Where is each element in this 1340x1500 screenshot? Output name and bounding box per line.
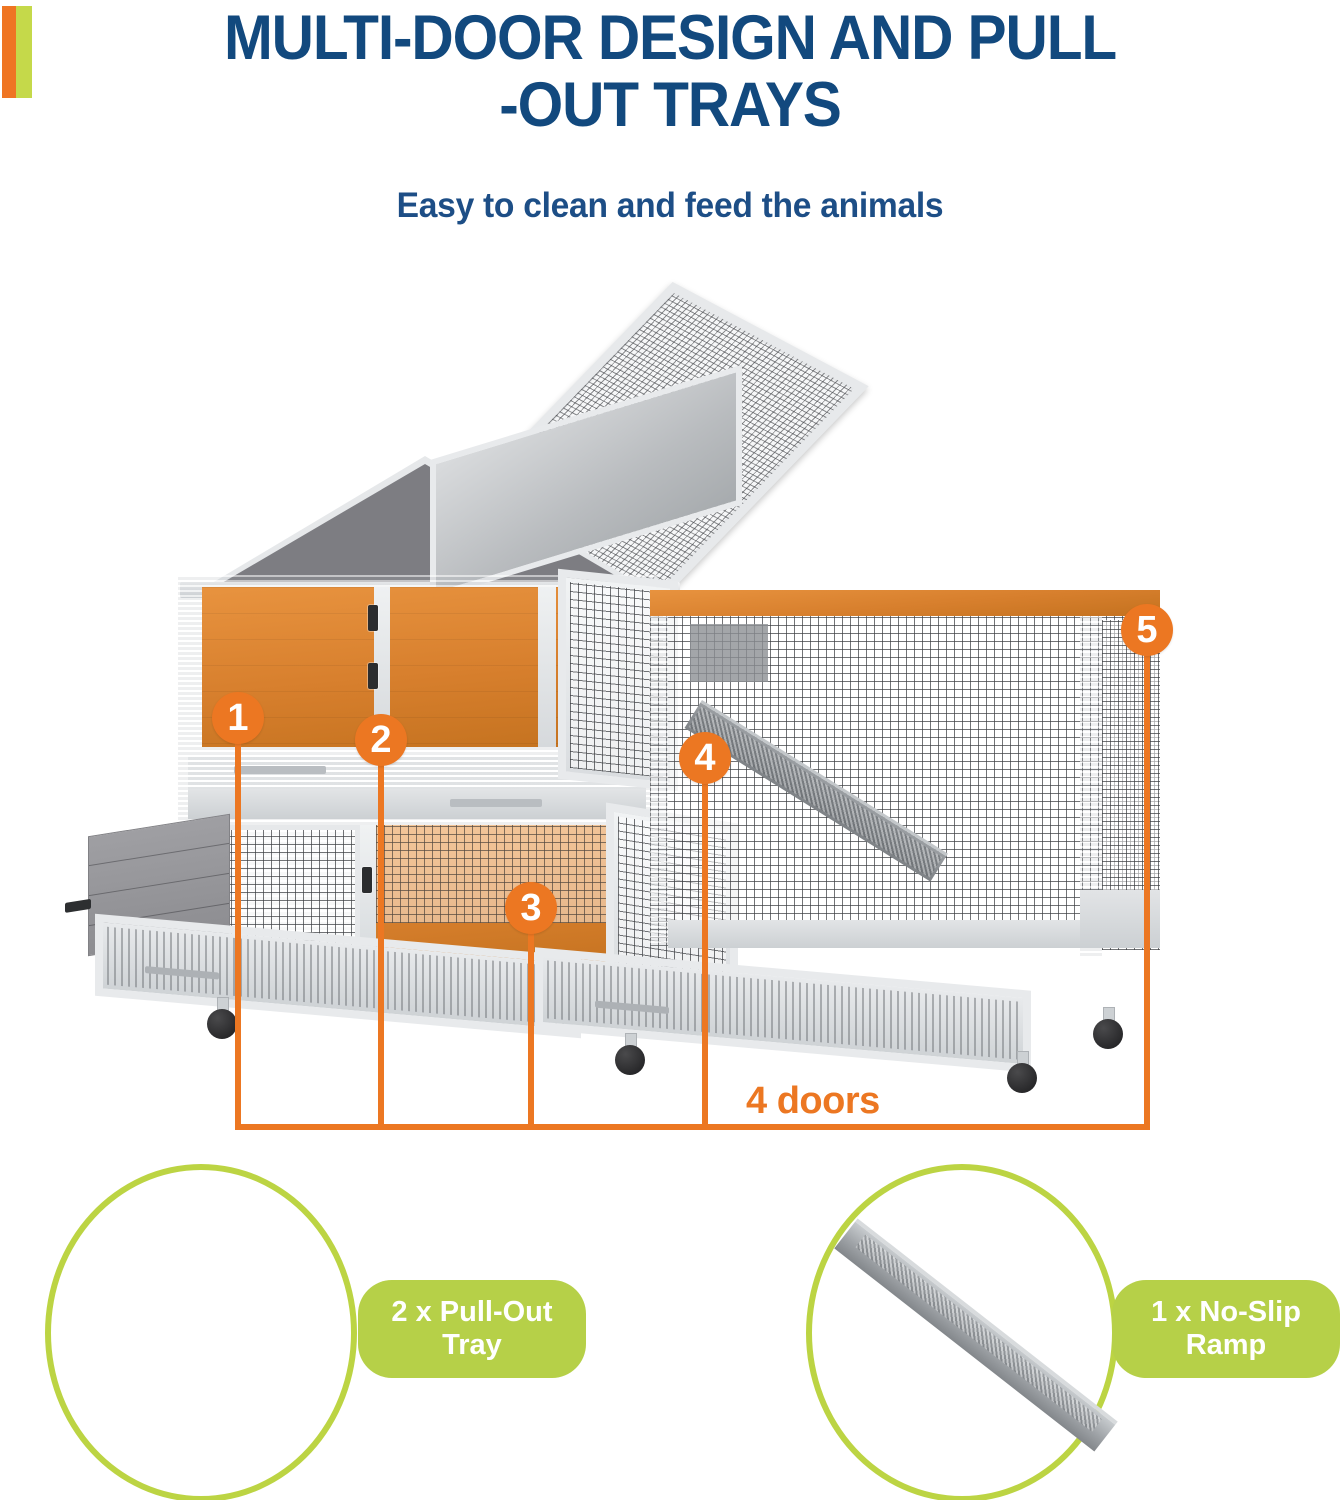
outdoor-run-enclosure bbox=[650, 590, 1160, 990]
ramp-photo-bar bbox=[834, 1218, 1117, 1451]
feature-pill-ramp-text: 1 x No-Slip Ramp bbox=[1151, 1296, 1301, 1363]
feature-pill-ramp-line-1: 1 x No-Slip bbox=[1151, 1296, 1301, 1328]
accent-bar-orange-stripe bbox=[2, 6, 16, 98]
run-left-post bbox=[650, 616, 668, 946]
feature-pill-tray-text: 2 x Pull-Out Tray bbox=[391, 1296, 552, 1363]
callout-marker-3[interactable]: 3 bbox=[505, 882, 557, 934]
callout-line-5 bbox=[1144, 652, 1150, 1130]
callout-line-3 bbox=[528, 930, 534, 1130]
callout-marker-4[interactable]: 4 bbox=[679, 732, 731, 784]
hinge-upper-bottom bbox=[368, 663, 378, 689]
caster-wheel-front-left bbox=[207, 1009, 237, 1039]
feature-pill-ramp: 1 x No-Slip Ramp bbox=[1112, 1280, 1340, 1378]
caster-wheel-rear-right bbox=[1093, 1019, 1123, 1049]
page-subtitle: Easy to clean and feed the animals bbox=[27, 186, 1313, 226]
feature-card-no-slip-ramp: 1 x No-Slip Ramp bbox=[700, 1160, 1340, 1500]
page-title-line-2: -OUT TRAYS bbox=[47, 75, 1293, 136]
callout-line-4 bbox=[702, 780, 708, 1130]
tray-right-slats bbox=[547, 960, 1019, 1059]
pull-out-tray-right bbox=[535, 947, 1031, 1072]
feature-pill-tray-line-1: 2 x Pull-Out bbox=[391, 1296, 552, 1328]
accent-bar-green-stripe bbox=[16, 6, 32, 98]
page-title-line-1: MULTI-DOOR DESIGN AND PULL bbox=[224, 3, 1116, 73]
page-title: MULTI-DOOR DESIGN AND PULL -OUT TRAYS bbox=[47, 8, 1293, 136]
hinge-lower bbox=[362, 867, 372, 893]
callout-marker-5[interactable]: 5 bbox=[1121, 604, 1173, 656]
tray-handle-right bbox=[450, 799, 542, 807]
flap-handle bbox=[65, 899, 91, 913]
caster-wheel-front-mid bbox=[615, 1045, 645, 1075]
ramp-photo-grit bbox=[856, 1235, 1102, 1432]
base-tray-assembly bbox=[95, 935, 1105, 1045]
accent-bar bbox=[2, 6, 32, 98]
callout-line-1 bbox=[235, 740, 241, 1130]
callout-marker-1[interactable]: 1 bbox=[212, 692, 264, 744]
flap-seam-2 bbox=[89, 873, 229, 896]
feature-pill-ramp-line-2: Ramp bbox=[1186, 1329, 1267, 1361]
hutch-main-body bbox=[178, 575, 658, 975]
four-doors-label: 4 doors bbox=[746, 1080, 880, 1123]
callout-line-2 bbox=[378, 762, 384, 1130]
run-top-rail bbox=[650, 590, 1160, 616]
run-entry-hatch bbox=[690, 624, 768, 682]
lower-tray-rail bbox=[188, 789, 646, 819]
flap-seam-1 bbox=[89, 843, 229, 866]
caster-wheel-front-right bbox=[1007, 1063, 1037, 1093]
callout-baseline bbox=[235, 1124, 1150, 1130]
tray-left-slats bbox=[107, 927, 569, 1025]
feature-card-pull-out-tray: 2 x Pull-Out Tray bbox=[0, 1160, 640, 1500]
lower-interior-mesh-overlay bbox=[376, 825, 632, 923]
no-slip-ramp-photo bbox=[815, 1220, 1125, 1450]
infographic-canvas: MULTI-DOOR DESIGN AND PULL -OUT TRAYS Ea… bbox=[0, 0, 1340, 1500]
callout-marker-2[interactable]: 2 bbox=[355, 714, 407, 766]
feature-circle-tray bbox=[45, 1164, 357, 1500]
upper-right-post bbox=[538, 587, 556, 747]
tray-handle-left bbox=[234, 766, 326, 774]
product-illustration bbox=[0, 235, 1340, 1115]
hinge-upper-top bbox=[368, 605, 378, 631]
feature-pill-tray: 2 x Pull-Out Tray bbox=[358, 1280, 586, 1378]
feature-pill-tray-line-2: Tray bbox=[442, 1329, 502, 1361]
